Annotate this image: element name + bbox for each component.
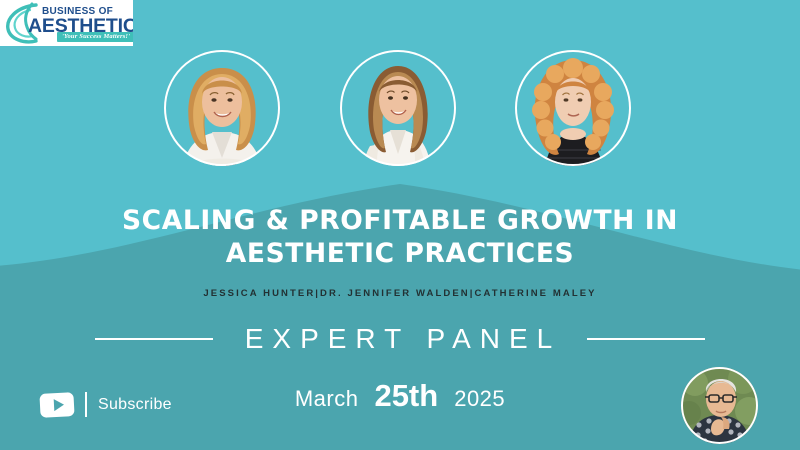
date-month: March	[295, 386, 359, 412]
speaker-photo-3	[501, 34, 645, 184]
host-avatar[interactable]	[681, 367, 758, 444]
panel-rule-right	[587, 338, 705, 340]
page-title: SCALING & PROFITABLE GROWTH IN AESTHETIC…	[0, 204, 800, 270]
panel-title: EXPERT PANEL	[239, 323, 562, 355]
headline-line-2: AESTHETIC PRACTICES	[0, 237, 800, 270]
youtube-play-icon[interactable]	[39, 392, 74, 418]
subscribe-label: Subscribe	[98, 396, 172, 414]
brand-logo[interactable]: BUSINESS OF AESTHETICS 'Your Success Mat…	[0, 0, 133, 46]
speaker-portrait-jessica-hunter	[164, 50, 280, 166]
speaker-photo-2	[326, 34, 470, 184]
expert-panel-banner: EXPERT PANEL	[0, 323, 800, 355]
host-avatar-ring	[681, 367, 758, 444]
date-day: 25th	[374, 378, 438, 414]
date-year: 2025	[454, 386, 505, 412]
headline-line-1: SCALING & PROFITABLE GROWTH IN	[122, 205, 678, 236]
logo-tagline: 'Your Success Matters!'	[57, 32, 133, 42]
subscribe-button[interactable]: Subscribe	[40, 392, 172, 417]
speaker-names-line: JESSICA HUNTER|DR. JENNIFER WALDEN|CATHE…	[0, 288, 800, 299]
panel-rule-left	[95, 338, 213, 340]
promo-graphic: BUSINESS OF AESTHETICS 'Your Success Mat…	[0, 0, 800, 450]
subscribe-divider	[85, 392, 87, 417]
play-triangle-icon	[53, 398, 64, 411]
speaker-portrait-catherine-maley	[515, 50, 631, 166]
speaker-portrait-jennifer-walden	[340, 50, 456, 166]
speaker-photo-1	[150, 34, 294, 184]
